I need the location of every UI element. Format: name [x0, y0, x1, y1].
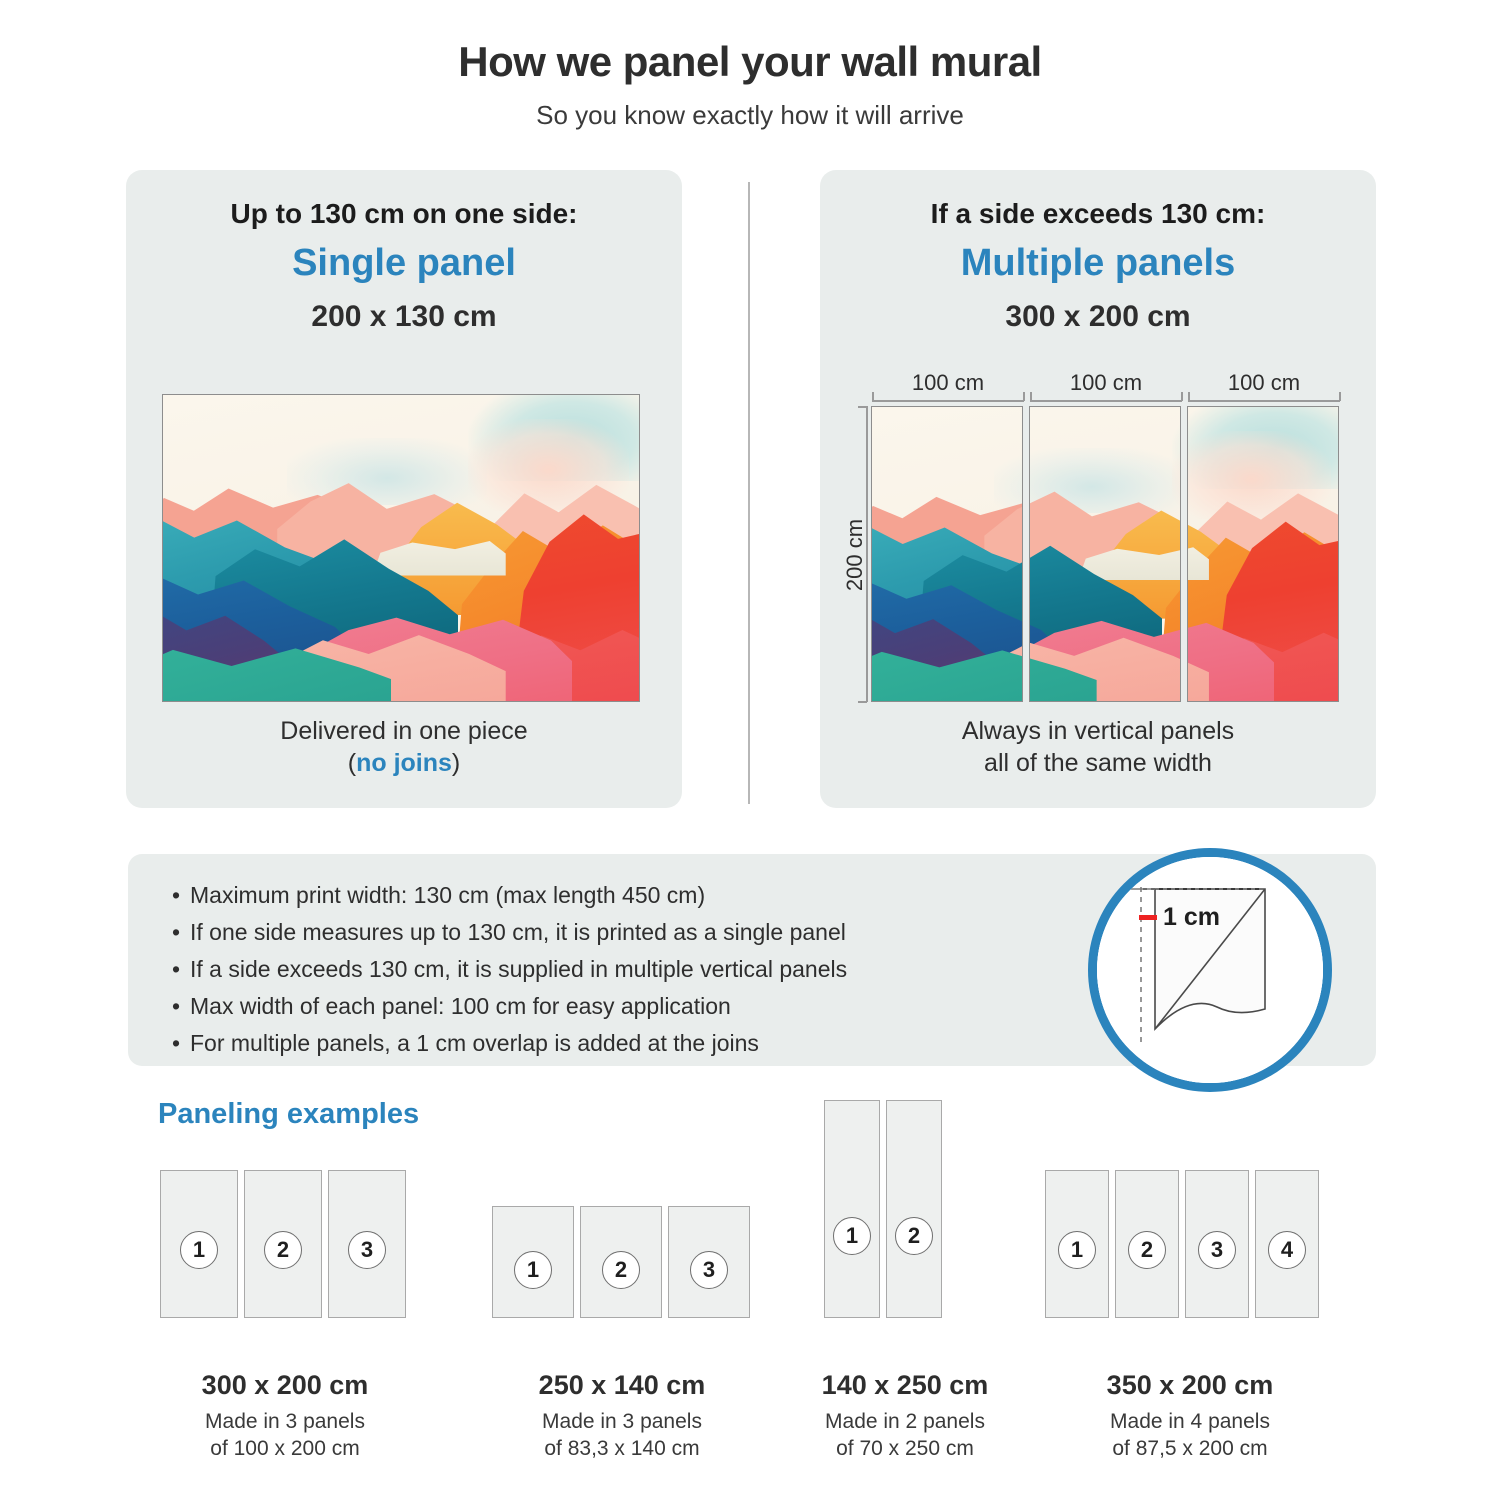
example-panel: 2: [580, 1206, 662, 1318]
panel-number: 1: [1058, 1231, 1096, 1269]
panel-number: 1: [180, 1231, 218, 1269]
multi-panel-footer-line2: all of the same width: [984, 749, 1212, 777]
page-title: How we panel your wall mural: [0, 38, 1500, 86]
dimtick: [858, 701, 867, 703]
example-panel: 2: [886, 1100, 942, 1318]
single-panel-dimensions: 200 x 130 cm: [126, 300, 682, 334]
infographic-page: How we panel your wall mural So you know…: [0, 0, 1500, 1500]
example-size: 350 x 200 cm: [1045, 1370, 1335, 1401]
panel-height-label: 200 cm: [842, 505, 868, 605]
panel-number: 2: [1128, 1231, 1166, 1269]
paren-close: ): [452, 749, 460, 777]
example-size: 140 x 250 cm: [800, 1370, 1010, 1401]
overlap-red-marker: [1139, 915, 1157, 920]
example-panel: 1: [1045, 1170, 1109, 1318]
panel-number: 1: [833, 1217, 871, 1255]
example-300x200: 1 2 3 300 x 200 cm Made in 3 panels of 1…: [160, 1170, 430, 1460]
dimtick: [1030, 392, 1032, 401]
page-subtitle: So you know exactly how it will arrive: [0, 100, 1500, 131]
bullet-item: •For multiple panels, a 1 cm overlap is …: [172, 1030, 759, 1057]
width-dimline-2: [1030, 400, 1182, 402]
width-dimline-3: [1188, 400, 1340, 402]
no-joins-accent: no joins: [356, 749, 452, 777]
paneling-examples-title: Paneling examples: [158, 1098, 419, 1131]
example-panel: 4: [1255, 1170, 1319, 1318]
panel-number: 4: [1268, 1231, 1306, 1269]
card-divider: [748, 182, 750, 804]
panel-number: 1: [514, 1251, 552, 1289]
bullet-item: •If a side exceeds 130 cm, it is supplie…: [172, 956, 847, 983]
example-panel: 1: [160, 1170, 238, 1318]
single-panel-result: Single panel: [126, 242, 682, 285]
panel-number: 2: [602, 1251, 640, 1289]
panel-number: 3: [690, 1251, 728, 1289]
example-desc-2: of 100 x 200 cm: [210, 1437, 359, 1460]
mural-panel-2: [1029, 406, 1181, 702]
width-dimline-1: [872, 400, 1024, 402]
dimtick: [858, 406, 867, 408]
bullet-text: If one side measures up to 130 cm, it is…: [190, 919, 846, 945]
overlap-diagram-circle: 1 cm: [1088, 848, 1332, 1092]
example-panel: 2: [244, 1170, 322, 1318]
mural-panel-1: [871, 406, 1023, 702]
example-desc-1: Made in 4 panels: [1110, 1410, 1270, 1433]
panel-number: 3: [1198, 1231, 1236, 1269]
overlap-illustration: [1097, 857, 1323, 1083]
bullet-text: Max width of each panel: 100 cm for easy…: [190, 993, 731, 1019]
single-panel-condition: Up to 130 cm on one side:: [126, 198, 682, 230]
example-panel: 3: [328, 1170, 406, 1318]
example-desc-1: Made in 3 panels: [542, 1410, 702, 1433]
overlap-label: 1 cm: [1163, 903, 1220, 932]
example-panel: 2: [1115, 1170, 1179, 1318]
example-size: 250 x 140 cm: [492, 1370, 752, 1401]
panel-number: 2: [895, 1217, 933, 1255]
bullet-item: •If one side measures up to 130 cm, it i…: [172, 919, 846, 946]
dimtick: [1339, 392, 1341, 401]
multi-panel-dimensions: 300 x 200 cm: [820, 300, 1376, 334]
bullet-text: Maximum print width: 130 cm (max length …: [190, 882, 705, 908]
multi-panel-condition: If a side exceeds 130 cm:: [820, 198, 1376, 230]
bullet-text: For multiple panels, a 1 cm overlap is a…: [190, 1030, 759, 1056]
mural-artwork-multi: [871, 406, 1339, 702]
example-panel: 3: [1185, 1170, 1249, 1318]
multi-panel-result: Multiple panels: [820, 242, 1376, 285]
dimtick: [872, 392, 874, 401]
panel-width-label-2: 100 cm: [1030, 370, 1182, 396]
example-desc-2: of 87,5 x 200 cm: [1112, 1437, 1267, 1460]
dimtick: [1181, 392, 1183, 401]
example-desc-1: Made in 3 panels: [205, 1410, 365, 1433]
panel-width-label-3: 100 cm: [1188, 370, 1340, 396]
panel-number: 3: [348, 1231, 386, 1269]
panel-number: 2: [264, 1231, 302, 1269]
multi-panel-footer-line1: Always in vertical panels: [962, 717, 1234, 745]
example-desc-2: of 83,3 x 140 cm: [544, 1437, 699, 1460]
single-panel-footer-line1: Delivered in one piece: [280, 717, 527, 745]
mural-artwork-single: [162, 394, 640, 702]
example-250x140: 1 2 3 250 x 140 cm Made in 3 panels of 8…: [492, 1170, 762, 1460]
bullet-item: •Max width of each panel: 100 cm for eas…: [172, 993, 731, 1020]
bullet-item: •Maximum print width: 130 cm (max length…: [172, 882, 705, 909]
panel-width-label-1: 100 cm: [872, 370, 1024, 396]
mural-panel-3: [1187, 406, 1339, 702]
example-140x250: 1 2 140 x 250 cm Made in 2 panels of 70 …: [800, 1100, 1010, 1460]
example-panel: 1: [824, 1100, 880, 1318]
example-350x200: 1 2 3 4 350 x 200 cm Made in 4 panels of…: [1045, 1170, 1345, 1460]
dimtick: [1023, 392, 1025, 401]
example-desc-2: of 70 x 250 cm: [836, 1437, 974, 1460]
example-panel: 1: [492, 1206, 574, 1318]
example-desc-1: Made in 2 panels: [825, 1410, 985, 1433]
example-panel: 3: [668, 1206, 750, 1318]
example-size: 300 x 200 cm: [160, 1370, 410, 1401]
dimtick: [1188, 392, 1190, 401]
paren-open: (: [348, 749, 356, 777]
bullet-text: If a side exceeds 130 cm, it is supplied…: [190, 956, 847, 982]
